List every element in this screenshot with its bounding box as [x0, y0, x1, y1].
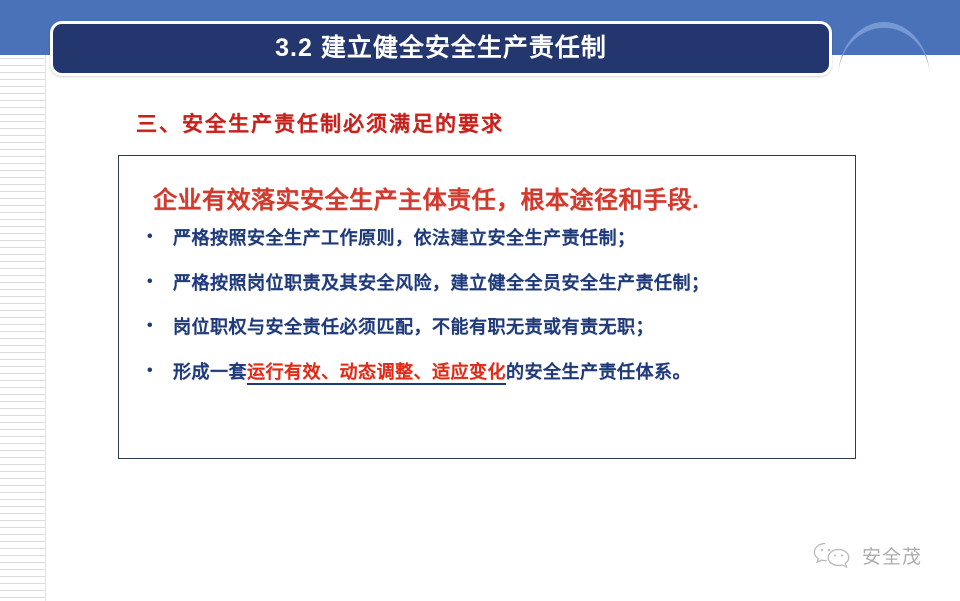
list-item-text: 严格按照安全生产工作原则，依法建立安全生产责任制； — [173, 227, 835, 250]
bullet-marker-icon: • — [139, 316, 173, 336]
section-subtitle: 三、安全生产责任制必须满足的要求 — [136, 108, 504, 138]
content-box: 企业有效落实安全生产主体责任，根本途径和手段. • 严格按照安全生产工作原则，依… — [118, 155, 856, 459]
list-item: • 严格按照岗位职责及其安全风险，建立健全全员安全生产责任制； — [139, 272, 835, 295]
left-stripe-pattern — [0, 55, 46, 601]
bullet-marker-icon: • — [139, 361, 173, 381]
list-item: • 形成一套运行有效、动态调整、适应变化的安全生产责任体系。 — [139, 361, 835, 384]
slide-title-bar: 3.2 建立健全安全生产责任制 — [50, 21, 832, 76]
page-title: 3.2 建立健全安全生产责任制 — [275, 36, 607, 61]
list-item-text: 岗位职权与安全责任必须匹配，不能有职无责或有责无职； — [173, 316, 835, 339]
slide: 3.2 建立健全安全生产责任制 三、安全生产责任制必须满足的要求 企业有效落实安… — [0, 0, 960, 601]
watermark-text: 安全茂 — [862, 542, 922, 569]
text-segment: 严格按照岗位职责及其安全风险，建立健全全员安全生产责任制； — [173, 273, 710, 293]
bullet-marker-icon: • — [139, 272, 173, 292]
bullet-list: • 严格按照安全生产工作原则，依法建立安全生产责任制； • 严格按照岗位职责及其… — [139, 227, 835, 383]
list-item: • 严格按照安全生产工作原则，依法建立安全生产责任制； — [139, 227, 835, 250]
text-segment: 岗位职权与安全责任必须匹配，不能有职无责或有责无职； — [173, 317, 654, 337]
list-item: • 岗位职权与安全责任必须匹配，不能有职无责或有责无职； — [139, 316, 835, 339]
text-segment: 的安全生产责任体系。 — [506, 362, 691, 382]
left-stripe-edge-line — [45, 55, 46, 601]
wechat-bubbles-icon — [812, 540, 852, 570]
content-heading: 企业有效落实安全生产主体责任，根本途径和手段. — [153, 180, 835, 215]
list-item-text: 形成一套运行有效、动态调整、适应变化的安全生产责任体系。 — [173, 361, 835, 384]
text-segment: 严格按照安全生产工作原则，依法建立安全生产责任制； — [173, 228, 636, 248]
text-segment: 形成一套 — [173, 362, 247, 382]
bullet-marker-icon: • — [139, 227, 173, 247]
watermark: 安全茂 — [812, 540, 922, 570]
top-blue-band-left-block — [0, 0, 46, 55]
list-item-text: 严格按照岗位职责及其安全风险，建立健全全员安全生产责任制； — [173, 272, 835, 295]
text-segment-emphasis: 运行有效、动态调整、适应变化 — [247, 362, 506, 385]
